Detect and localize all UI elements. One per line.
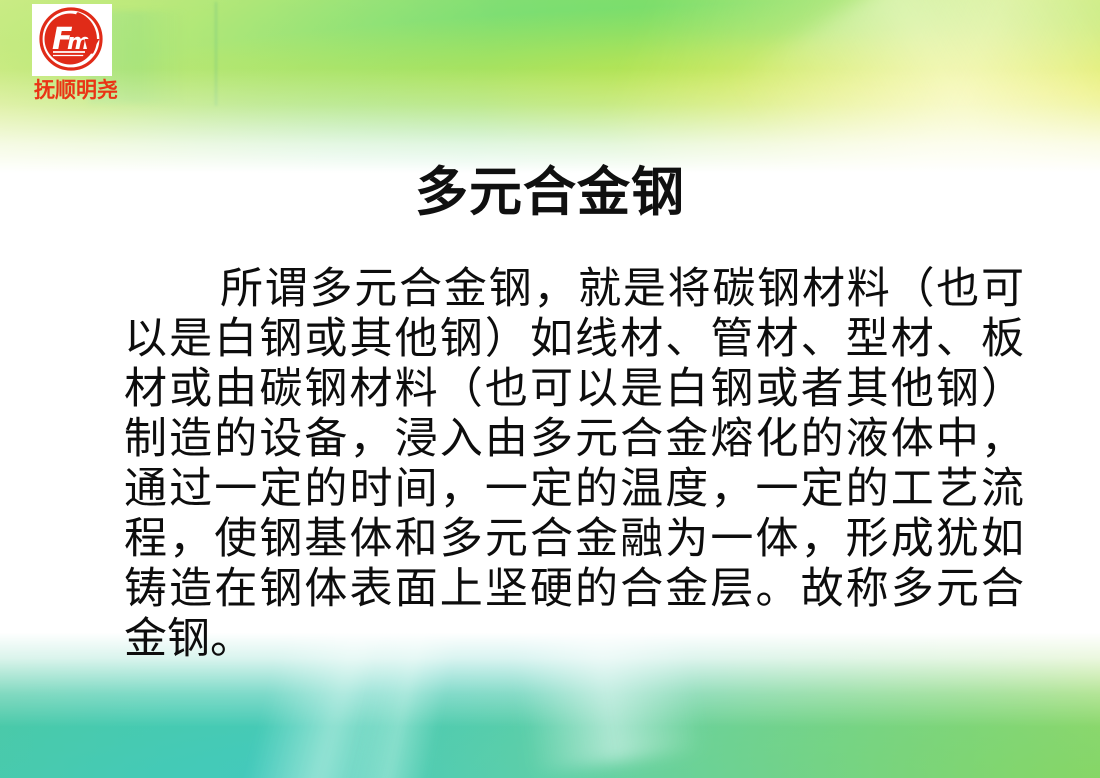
slide-content: 多元合金钢 所谓多元合金钢，就是将碳钢材料（也可以是白钢或其他钢）如线材、管材、… bbox=[0, 0, 1100, 778]
body-paragraph: 所谓多元合金钢，就是将碳钢材料（也可以是白钢或其他钢）如线材、管材、型材、板材或… bbox=[124, 264, 1024, 664]
svg-text:y: y bbox=[83, 30, 100, 58]
fmy-circle-logo-icon: F m y bbox=[32, 4, 112, 76]
page-title: 多元合金钢 bbox=[0, 163, 1100, 222]
company-name-label: 抚顺明尧 bbox=[16, 79, 136, 101]
company-logo[interactable]: F m y 抚顺明尧 bbox=[16, 4, 136, 101]
presentation-slide: F m y 抚顺明尧 多元合金钢 所谓多元合金钢，就是将碳钢材料（也可以是白钢或… bbox=[0, 0, 1100, 778]
